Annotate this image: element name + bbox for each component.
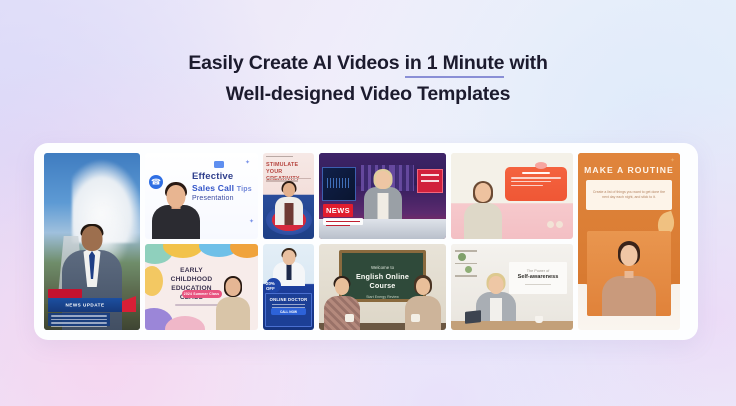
template-card-power-of-self-awareness[interactable]: The Power of Self-awareness: [451, 244, 573, 330]
plant-icon: [458, 253, 466, 261]
sales-title-accent: Tips: [237, 186, 252, 193]
self-awareness-line-1: The Power of: [509, 269, 567, 273]
news-badge: NEWS: [323, 204, 353, 217]
routine-presenter-photo: [587, 231, 671, 316]
live-tag: [48, 289, 82, 298]
routine-note-card: Create a list of things you want to get …: [586, 180, 672, 210]
template-card-pink-lesson-slide[interactable]: [451, 153, 573, 239]
gallery-column-1: NEWS UPDATE: [44, 153, 140, 330]
cup-left: [345, 314, 354, 322]
gallery-column-4: NEWS Welcome to English Online Course St…: [319, 153, 446, 330]
template-card-news-studio-broadcast[interactable]: NEWS: [319, 153, 446, 239]
sparkle-icon: ✦: [245, 159, 250, 166]
template-grid: NEWS UPDATE ✦ ✦ Effective Sales Call: [44, 153, 688, 330]
template-card-english-online-course[interactable]: Welcome to English Online Course Start E…: [319, 244, 446, 330]
laptop-icon: [465, 310, 481, 324]
call-now-button[interactable]: CALL NOW: [271, 308, 306, 315]
discount-badge: 20% OFF: [266, 278, 281, 293]
presenter-figure: [461, 183, 505, 239]
student-figure-right: [404, 278, 442, 330]
template-card-effective-sales-call-tips[interactable]: ✦ ✦ Effective Sales Call Tips Presentati…: [145, 153, 258, 239]
template-card-early-childhood-education-class[interactable]: EARLY CHILDHOOD EDUCATION CLASS 2024 Sum…: [145, 244, 258, 330]
self-awareness-slide: The Power of Self-awareness: [509, 262, 567, 294]
cup-right: [411, 314, 420, 322]
template-card-online-doctor[interactable]: 20% OFF ONLINE DOCTOR CALL NOW: [263, 244, 314, 330]
news-ticker-bar: [323, 218, 363, 225]
page-title-underlined-phrase: in 1 Minute: [405, 52, 505, 78]
bow-decoration: [535, 162, 547, 169]
news-update-banner: NEWS UPDATE: [48, 298, 122, 312]
lower-third-text-block: [48, 313, 110, 326]
sparkle-icon: ✦: [670, 157, 675, 164]
page-title-line-1: Easily Create AI Videos in 1 Minute with: [0, 48, 736, 79]
gallery-column-5: The Power of Self-awareness: [451, 153, 573, 330]
speaker-figure: [475, 276, 517, 322]
template-gallery-panel: NEWS UPDATE ✦ ✦ Effective Sales Call: [34, 143, 698, 340]
page-title: Easily Create AI Videos in 1 Minute with…: [0, 48, 736, 110]
course-title-line-1: Welcome to: [342, 265, 423, 270]
routine-note-body: Create a list of things you want to get …: [591, 190, 667, 200]
news-anchor-figure: [363, 171, 403, 219]
news-update-banner-label: NEWS UPDATE: [65, 303, 104, 308]
orange-highlight-card: [505, 167, 567, 201]
online-doctor-cta-box: ONLINE DOCTOR CALL NOW: [265, 293, 312, 327]
teacher-figure: [214, 278, 252, 330]
sparkle-icon-2: ✦: [249, 218, 254, 225]
gallery-column-6: MAKE A ROUTINE Create a list of things y…: [578, 153, 680, 330]
gallery-column-2: ✦ ✦ Effective Sales Call Tips Presentati…: [145, 153, 258, 330]
page-title-line-2: Well-designed Video Templates: [0, 79, 736, 110]
page-title-line-1-after: with: [504, 52, 547, 74]
make-a-routine-title: MAKE A ROUTINE: [578, 165, 680, 175]
studio-screen-left: [322, 167, 356, 201]
decorative-dots: [545, 215, 563, 233]
presenter-figure: [149, 181, 203, 239]
student-figure-left: [323, 278, 361, 330]
badge-shape: [214, 161, 224, 168]
gallery-column-3: STIMULATE YOUR CREATIVITY 20% OFF ONLINE…: [263, 153, 314, 330]
mug-icon: [535, 316, 543, 323]
page-title-line-1-before: Easily Create AI Videos: [188, 52, 404, 74]
template-card-make-a-routine[interactable]: MAKE A ROUTINE Create a list of things y…: [578, 153, 680, 330]
speaker-figure: [274, 183, 304, 225]
plant-icon-2: [465, 266, 472, 273]
self-awareness-line-2: Self-awareness: [509, 274, 567, 280]
logo-placeholder: [266, 156, 311, 161]
studio-screen-right: [417, 169, 443, 193]
online-doctor-title: ONLINE DOCTOR: [266, 297, 311, 302]
template-card-stimulate-your-creativity[interactable]: STIMULATE YOUR CREATIVITY: [263, 153, 314, 239]
template-card-news-reporter-outdoor[interactable]: NEWS UPDATE: [44, 153, 140, 330]
